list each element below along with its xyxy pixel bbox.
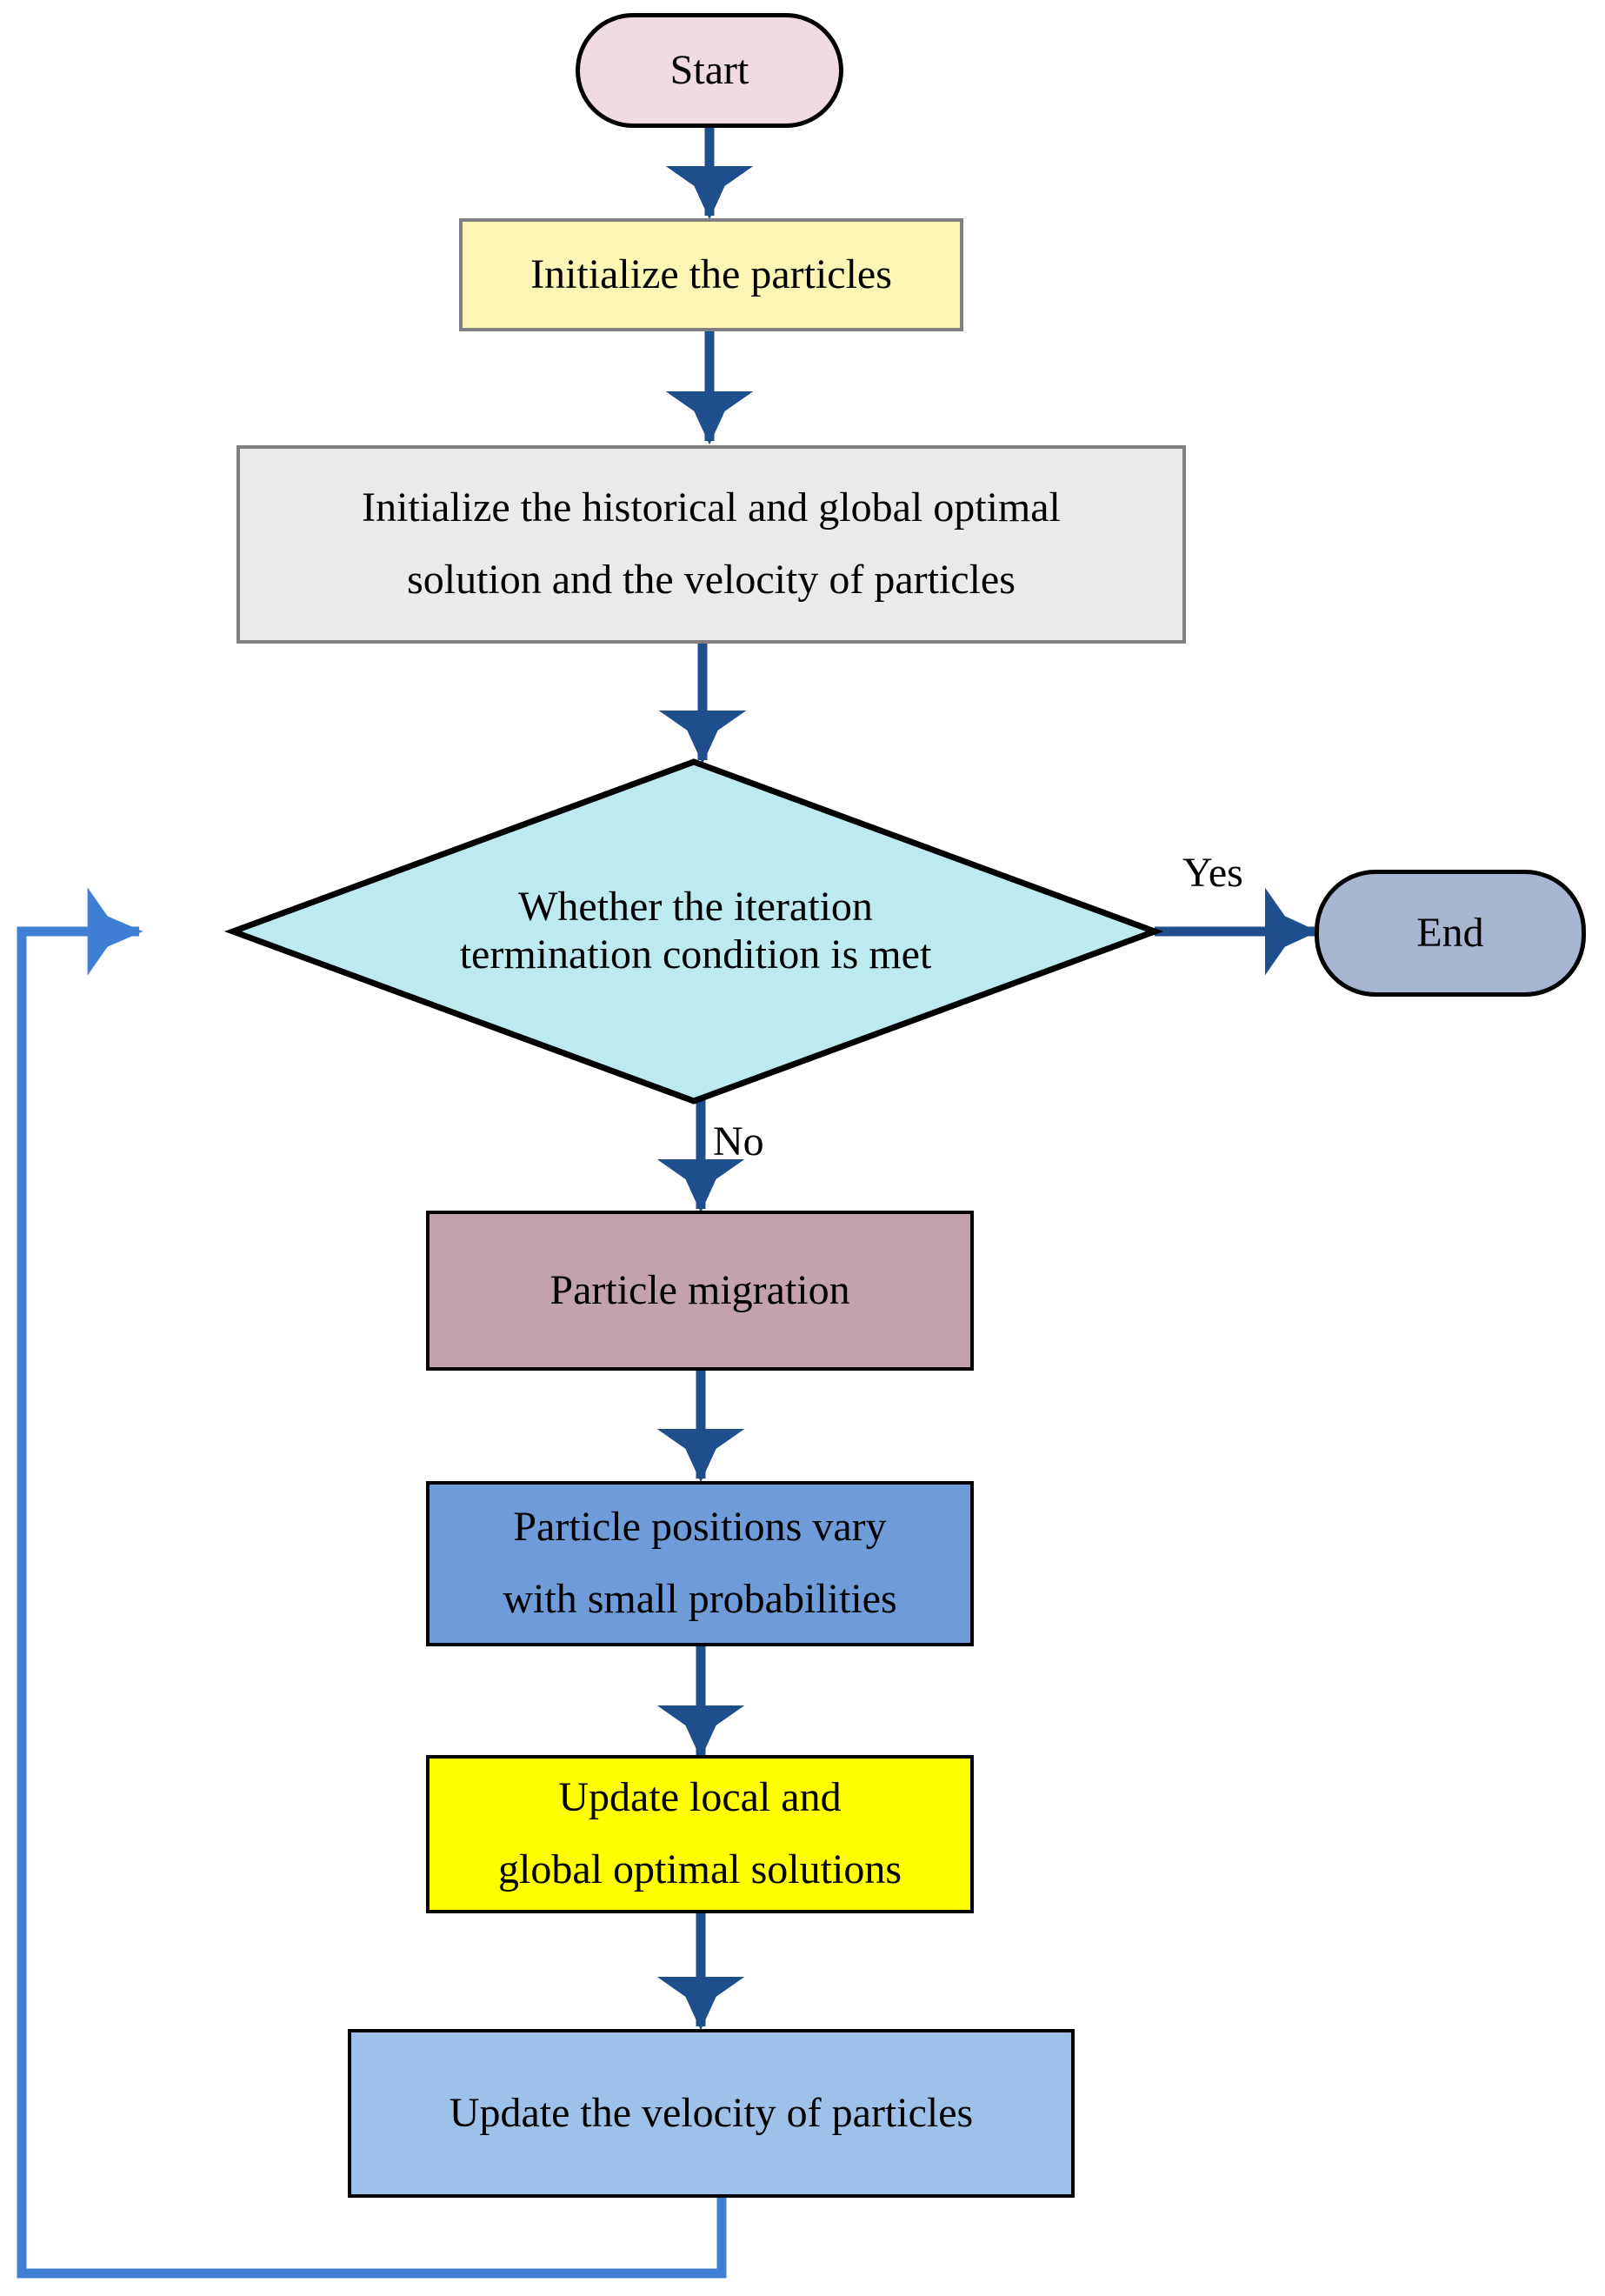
node-start-label: Start: [670, 35, 749, 107]
node-update-optimal-solutions[interactable]: Update local and global optimal solution…: [426, 1755, 974, 1913]
node-update-optimal-line-1: Update local and: [558, 1762, 841, 1834]
node-initialize-solution[interactable]: Initialize the historical and global opt…: [236, 445, 1186, 644]
edge-label-yes: Yes: [1182, 849, 1243, 897]
node-initialize-particles[interactable]: Initialize the particles: [459, 218, 963, 331]
edge-label-no: No: [713, 1118, 764, 1165]
node-update-velocity-label: Update the velocity of particles: [450, 2078, 973, 2150]
node-decision-termination[interactable]: Whether the iteration termination condit…: [383, 835, 1009, 1026]
node-decision-line-2: termination condition is met: [460, 931, 932, 978]
node-end-label: End: [1416, 898, 1483, 970]
node-end[interactable]: End: [1315, 870, 1586, 997]
node-particle-positions-line-2: with small probabilities: [503, 1564, 896, 1636]
node-update-velocity[interactable]: Update the velocity of particles: [348, 2029, 1075, 2198]
node-start[interactable]: Start: [576, 13, 843, 128]
node-particle-migration-label: Particle migration: [549, 1255, 849, 1327]
connector-layer: [0, 0, 1605, 2296]
node-decision-line-1: Whether the iteration: [518, 883, 873, 931]
node-update-optimal-line-2: global optimal solutions: [498, 1834, 902, 1906]
flowchart-canvas: Start Initialize the particles Initializ…: [0, 0, 1605, 2296]
node-particle-positions-vary[interactable]: Particle positions vary with small proba…: [426, 1481, 974, 1646]
node-particle-positions-line-1: Particle positions vary: [513, 1492, 886, 1564]
node-initialize-particles-label: Initialize the particles: [530, 239, 892, 311]
node-initialize-solution-line-1: Initialize the historical and global opt…: [362, 472, 1061, 544]
node-particle-migration[interactable]: Particle migration: [426, 1211, 974, 1371]
node-initialize-solution-line-2: solution and the velocity of particles: [407, 544, 1016, 617]
